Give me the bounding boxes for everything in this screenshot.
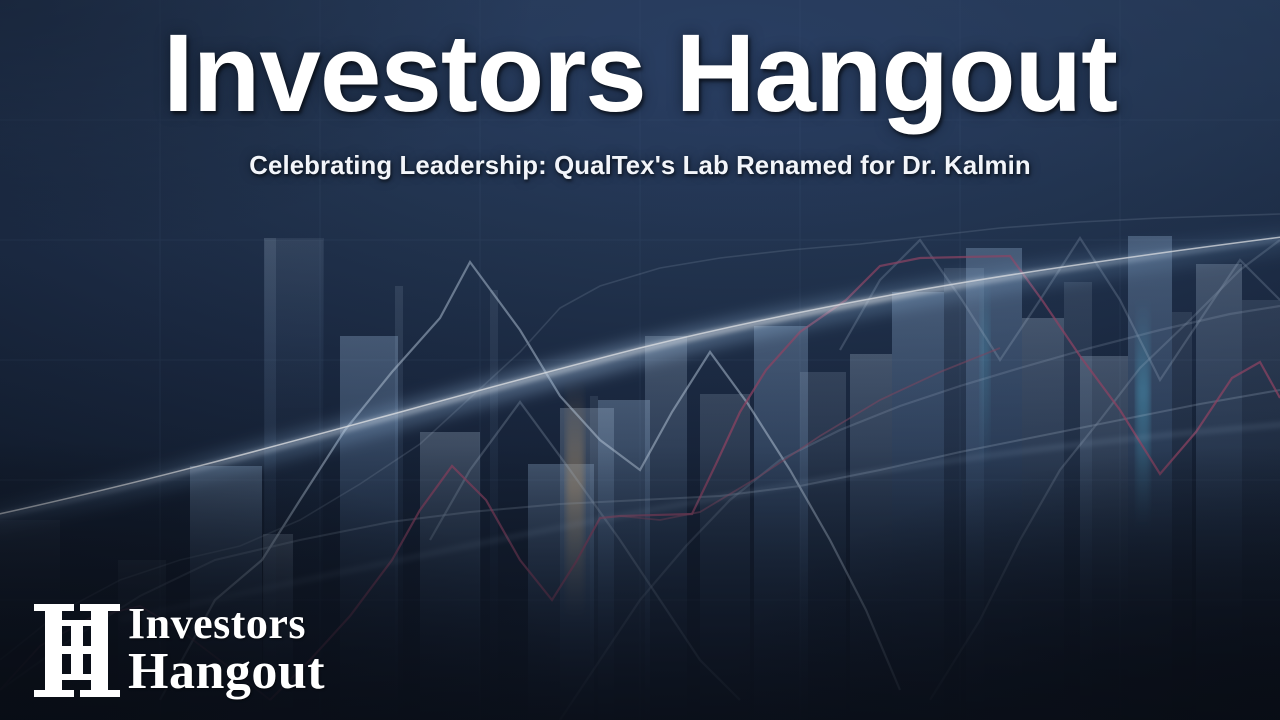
logo-wordmark: Investors Hangout (128, 603, 325, 696)
logo-line-hangout: Hangout (128, 647, 325, 696)
banner-image: Investors Hangout Celebrating Leadership… (0, 0, 1280, 720)
banner-header: Investors Hangout Celebrating Leadership… (0, 0, 1280, 181)
site-logo[interactable]: Investors Hangout (28, 598, 325, 702)
page-title: Investors Hangout (0, 16, 1280, 132)
page-subtitle: Celebrating Leadership: QualTex's Lab Re… (0, 152, 1280, 181)
logo-line-investors: Investors (128, 603, 325, 645)
ih-monogram-icon (28, 598, 120, 702)
